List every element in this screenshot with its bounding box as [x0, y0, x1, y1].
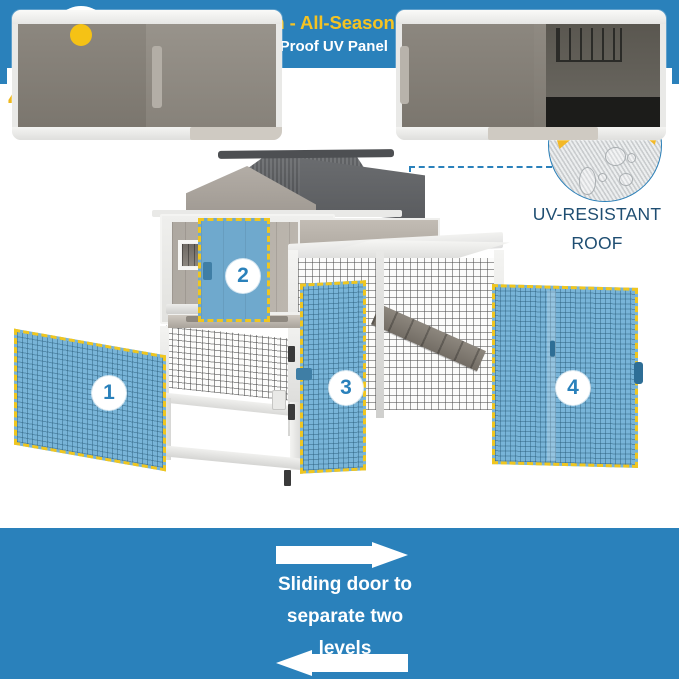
- rabbit-hutch-illustration: [0, 140, 679, 510]
- hutch-foot: [488, 127, 598, 140]
- sliding-door-handle: [152, 46, 162, 108]
- door-badge-4: 4: [556, 371, 590, 405]
- caption-line-3: levels: [264, 633, 426, 665]
- caption-line-2: separate two: [264, 601, 426, 633]
- tray-edge: [166, 304, 200, 314]
- right-rail: [672, 68, 679, 84]
- door-hinge: [288, 346, 295, 362]
- door-badge-3: 3: [329, 371, 363, 405]
- lower-run-mesh: [166, 326, 288, 401]
- door-badge-1: 1: [92, 376, 126, 410]
- sliding-door-open-photo: [396, 10, 666, 140]
- door-3-handle[interactable]: [296, 368, 312, 380]
- door-hinge: [288, 404, 295, 420]
- door-latch[interactable]: [272, 390, 286, 410]
- door-4-handle[interactable]: [634, 362, 643, 384]
- sliding-door-caption: Sliding door to separate two levels: [264, 569, 426, 665]
- infographic-root: Ideal Rabbit Hutch - All-Season Protecti…: [0, 0, 679, 679]
- hutch-foot: [190, 127, 282, 140]
- hutch-base-bar: [160, 445, 306, 470]
- door-2-handle[interactable]: [203, 262, 212, 280]
- run-post: [376, 250, 384, 418]
- door-badge-2: 2: [226, 259, 260, 293]
- left-rail: [0, 68, 7, 84]
- roof-ridge: [218, 149, 394, 159]
- door-hinge: [284, 470, 291, 486]
- interior-bars: [556, 28, 622, 62]
- sliding-door-handle: [400, 46, 409, 104]
- caption-line-1: Sliding door to: [264, 569, 426, 601]
- sliding-door-closed-photo: [12, 10, 282, 140]
- access-door-1[interactable]: [14, 329, 166, 472]
